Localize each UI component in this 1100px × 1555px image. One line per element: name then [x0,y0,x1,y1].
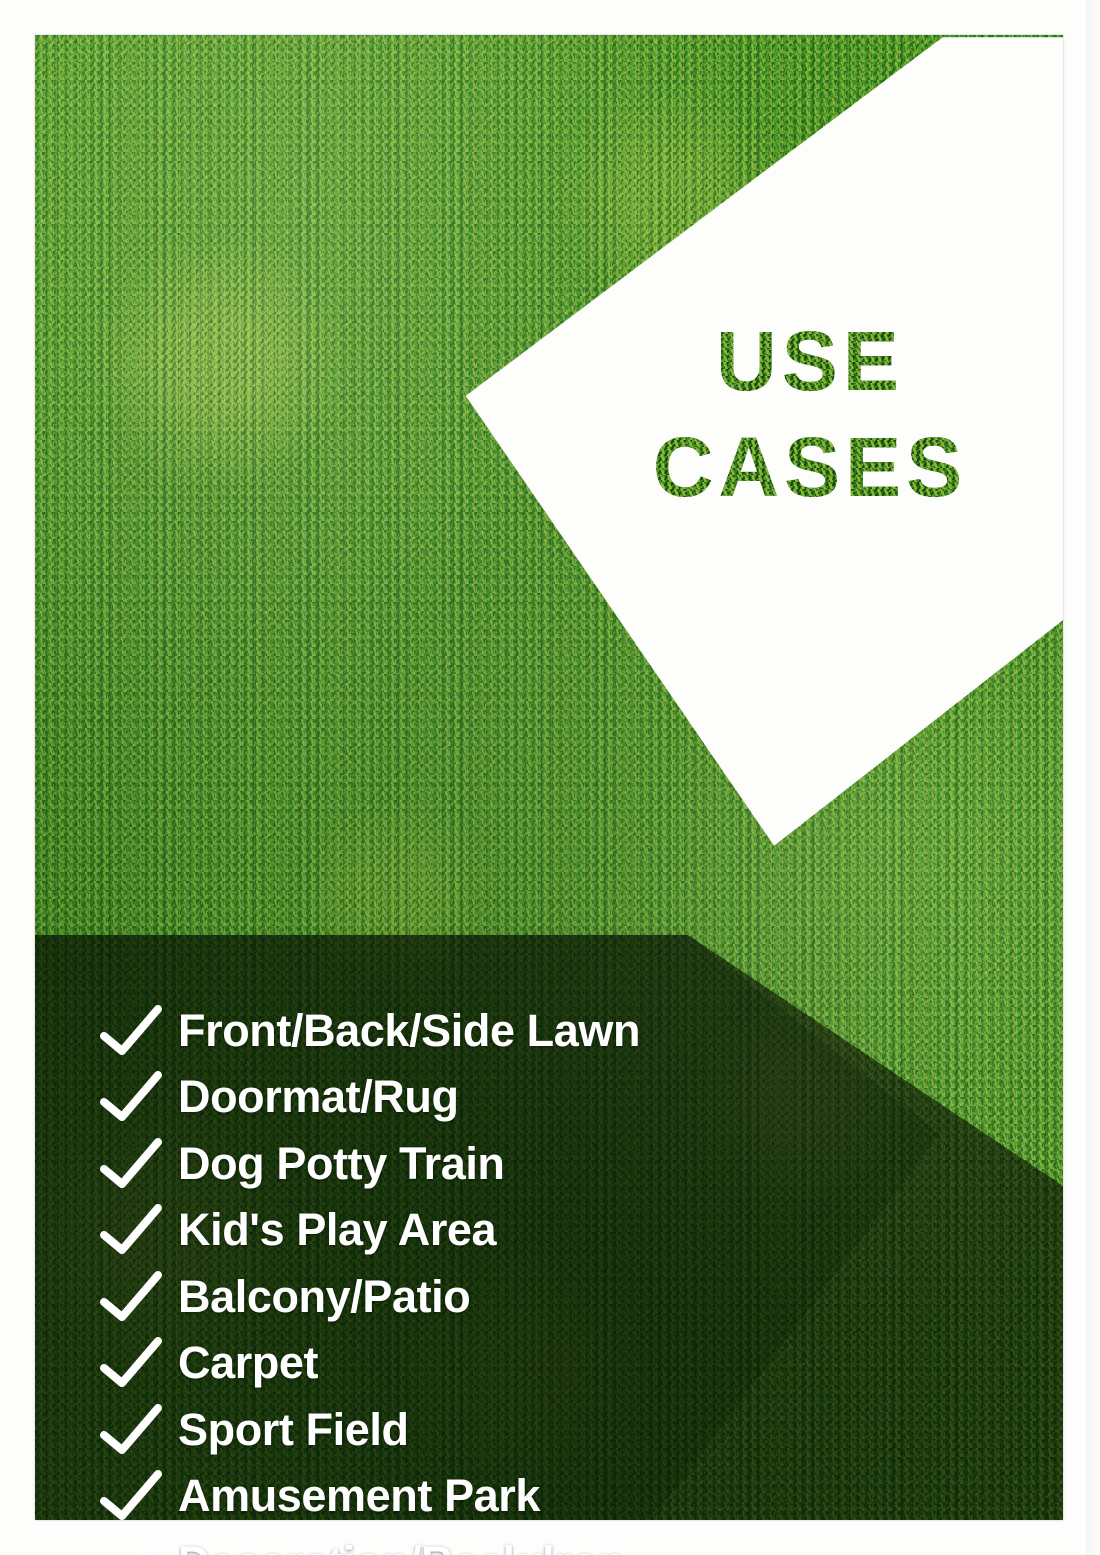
list-item: Amusement Park [100,1458,920,1525]
list-item-label: Amusement Park [178,1473,540,1524]
check-icon [100,1271,162,1323]
list-item: Front/Back/Side Lawn [100,992,920,1059]
list-item-label: Carpet [178,1340,318,1391]
check-icon [100,1337,162,1389]
list-item: Doormat/Rug [100,1059,920,1126]
check-icon [100,1204,162,1256]
check-icon [100,1470,162,1522]
list-item: Dog Potty Train [100,1125,920,1192]
page-title: USE CASES [600,320,1020,509]
list-item: Balcony/Patio [100,1258,920,1325]
list-item: Decoration/Backdrop [100,1524,920,1555]
title-line-cases: CASES [600,426,1020,508]
list-item-label: Decoration/Backdrop [178,1540,626,1555]
check-icon [100,1005,162,1057]
poster-canvas: USE CASES Front/Back/Side Lawn Doormat/R… [0,0,1100,1555]
list-item-label: Doormat/Rug [178,1074,459,1125]
use-case-list: Front/Back/Side Lawn Doormat/Rug Dog Pot… [100,992,920,1555]
check-icon [100,1138,162,1190]
list-item-label: Sport Field [178,1407,409,1458]
check-icon [100,1071,162,1123]
list-item: Sport Field [100,1391,920,1458]
title-line-use: USE [600,320,1020,402]
check-icon [100,1537,162,1555]
list-item: Carpet [100,1325,920,1392]
check-icon [100,1404,162,1456]
list-item-label: Balcony/Patio [178,1274,470,1325]
list-item-label: Kid's Play Area [178,1207,496,1258]
list-item-label: Front/Back/Side Lawn [178,1008,640,1059]
list-item: Kid's Play Area [100,1192,920,1259]
list-item-label: Dog Potty Train [178,1141,505,1192]
page-edge-shadow [1086,0,1100,1555]
